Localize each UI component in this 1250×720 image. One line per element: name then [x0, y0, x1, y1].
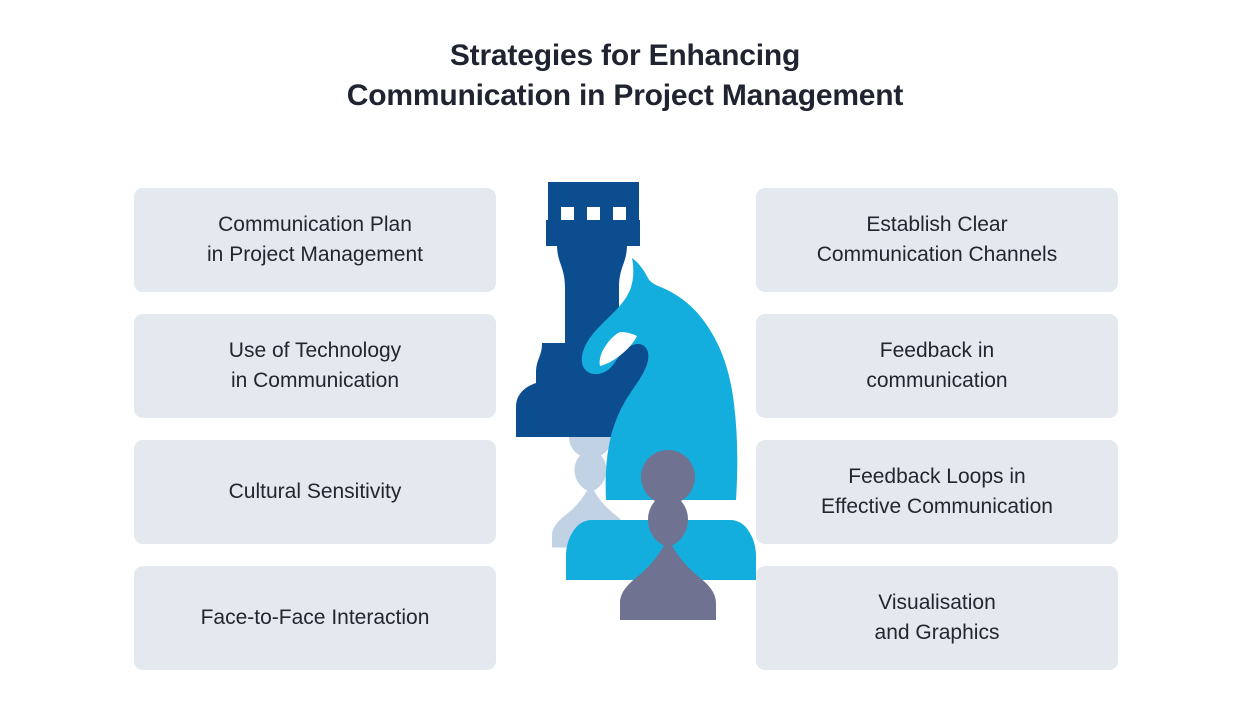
strategy-card-feedback-loops[interactable]: Feedback Loops in Effective Communicatio… [756, 440, 1118, 544]
strategy-card-cultural-sensitivity[interactable]: Cultural Sensitivity [134, 440, 496, 544]
strategy-card-label: Cultural Sensitivity [229, 477, 402, 507]
strategy-card-label: Feedback Loops in Effective Communicatio… [821, 462, 1053, 522]
strategy-card-label: Communication Plan in Project Management [207, 210, 423, 270]
page-title: Strategies for Enhancing Communication i… [0, 36, 1250, 116]
chess-pieces-illustration [500, 160, 780, 620]
strategy-card-feedback-in-communication[interactable]: Feedback in communication [756, 314, 1118, 418]
title-line-2: Communication in Project Management [0, 76, 1250, 116]
strategy-card-label: Visualisation and Graphics [875, 588, 1000, 648]
title-line-1: Strategies for Enhancing [0, 36, 1250, 76]
left-strategy-column: Communication Plan in Project Management… [134, 188, 496, 670]
strategy-card-communication-plan[interactable]: Communication Plan in Project Management [134, 188, 496, 292]
right-strategy-column: Establish Clear Communication Channels F… [756, 188, 1118, 670]
strategy-card-label: Face-to-Face Interaction [201, 603, 430, 633]
strategy-card-visualisation-and-graphics[interactable]: Visualisation and Graphics [756, 566, 1118, 670]
strategy-card-establish-clear-channels[interactable]: Establish Clear Communication Channels [756, 188, 1118, 292]
strategy-card-label: Use of Technology in Communication [229, 336, 401, 396]
strategy-card-face-to-face-interaction[interactable]: Face-to-Face Interaction [134, 566, 496, 670]
strategy-card-label: Feedback in communication [866, 336, 1007, 396]
strategy-card-use-of-technology[interactable]: Use of Technology in Communication [134, 314, 496, 418]
strategy-card-label: Establish Clear Communication Channels [817, 210, 1057, 270]
infographic-canvas: Strategies for Enhancing Communication i… [0, 0, 1250, 720]
